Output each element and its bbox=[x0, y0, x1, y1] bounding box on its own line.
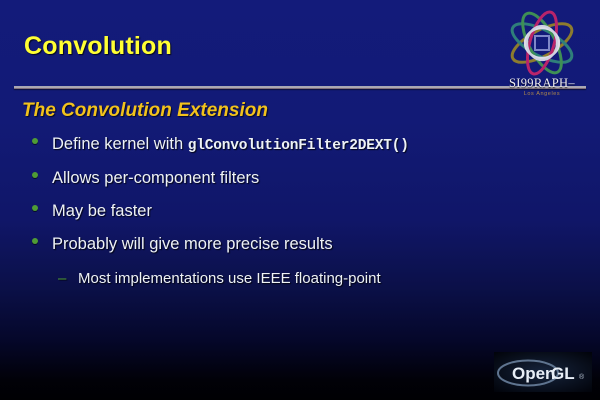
bullet-dot-icon bbox=[30, 233, 52, 254]
bullet-dot-icon bbox=[30, 133, 52, 154]
slide-body: Convolution The Convolution Extension De… bbox=[0, 0, 600, 400]
bullet-text-lead: Define kernel with bbox=[52, 135, 188, 153]
list-item: Allows per-component filters bbox=[30, 168, 575, 190]
dash-marker-icon: – bbox=[58, 269, 78, 289]
siggraph-dash-right: – bbox=[568, 76, 575, 90]
sub-list-item: – Most implementations use IEEE floating… bbox=[58, 269, 575, 289]
bullet-text: May be faster bbox=[52, 201, 152, 222]
bullet-list: Define kernel with glConvolutionFilter2D… bbox=[30, 134, 575, 289]
bullet-dot-icon bbox=[30, 167, 52, 188]
opengl-logo: Open GL ® bbox=[494, 352, 592, 392]
list-item: Define kernel with glConvolutionFilter2D… bbox=[30, 134, 575, 157]
siggraph-wordmark: SI99RAPH– bbox=[490, 76, 594, 91]
bullet-text: Probably will give more precise results bbox=[52, 234, 333, 255]
list-item: Probably will give more precise results bbox=[30, 234, 575, 256]
bullet-text: Define kernel with glConvolutionFilter2D… bbox=[52, 134, 409, 157]
svg-text:GL: GL bbox=[551, 364, 575, 383]
svg-text:®: ® bbox=[579, 373, 585, 381]
list-item: May be faster bbox=[30, 201, 575, 223]
siggraph-city: Los Angeles bbox=[490, 91, 594, 97]
slide-subtitle: The Convolution Extension bbox=[22, 100, 268, 122]
siggraph-logo: SI99RAPH– Los Angeles bbox=[490, 6, 594, 102]
siggraph-rings-icon bbox=[490, 6, 594, 80]
opengl-logo-icon: Open GL ® bbox=[494, 352, 592, 392]
bullet-dot-icon bbox=[30, 200, 52, 221]
bullet-text: Allows per-component filters bbox=[52, 168, 259, 189]
svg-text:Open: Open bbox=[512, 364, 555, 383]
page-title: Convolution bbox=[24, 32, 172, 61]
sub-bullet-text: Most implementations use IEEE floating-p… bbox=[78, 269, 381, 289]
slide-canvas: Convolution The Convolution Extension De… bbox=[0, 0, 600, 400]
api-function-name: glConvolutionFilter2DEXT() bbox=[188, 138, 409, 154]
